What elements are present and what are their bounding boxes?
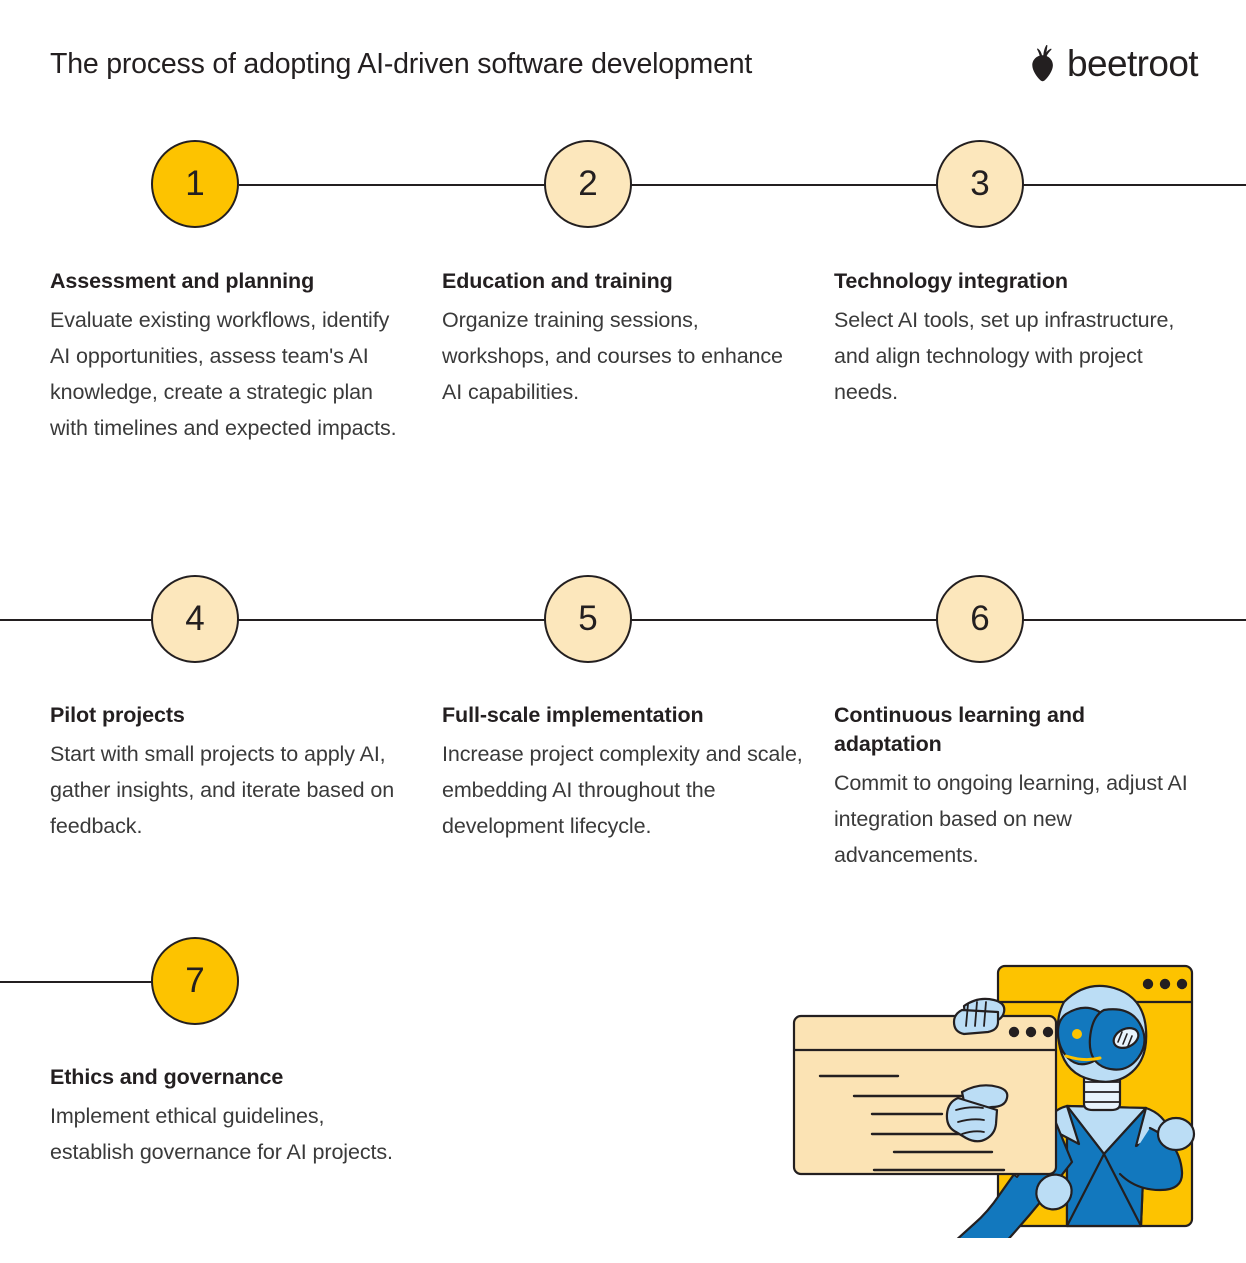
step-description: Increase project complexity and scale, e… bbox=[442, 736, 814, 844]
timeline-node-4[interactable]: 4 bbox=[151, 575, 239, 663]
timeline-step-1: Assessment and planning Evaluate existin… bbox=[50, 267, 405, 446]
step-description: Organize training sessions, workshops, a… bbox=[442, 302, 797, 410]
page-header: The process of adopting AI-driven softwa… bbox=[0, 48, 1246, 100]
timeline-step-4: Pilot projects Start with small projects… bbox=[50, 701, 405, 844]
timeline-rail-3 bbox=[0, 981, 153, 983]
timeline-rail-1 bbox=[239, 184, 1246, 186]
timeline-step-2: Education and training Organize training… bbox=[442, 267, 797, 410]
timeline-node-number: 7 bbox=[185, 961, 204, 1001]
timeline-node-number: 1 bbox=[185, 164, 204, 204]
timeline-node-1[interactable]: 1 bbox=[151, 140, 239, 228]
timeline-node-3[interactable]: 3 bbox=[936, 140, 1024, 228]
step-description: Evaluate existing workflows, identify AI… bbox=[50, 302, 405, 446]
step-description: Select AI tools, set up infrastructure, … bbox=[834, 302, 1189, 410]
timeline-node-6[interactable]: 6 bbox=[936, 575, 1024, 663]
beetroot-icon bbox=[1026, 44, 1060, 82]
step-title: Ethics and governance bbox=[50, 1063, 405, 1092]
timeline-node-number: 3 bbox=[970, 164, 989, 204]
step-description: Commit to ongoing learning, adjust AI in… bbox=[834, 765, 1189, 873]
step-title: Technology integration bbox=[834, 267, 1189, 296]
timeline-node-number: 2 bbox=[578, 164, 597, 204]
timeline-node-number: 5 bbox=[578, 599, 597, 639]
timeline-node-7[interactable]: 7 bbox=[151, 937, 239, 1025]
step-title: Pilot projects bbox=[50, 701, 405, 730]
step-title: Education and training bbox=[442, 267, 797, 296]
timeline-step-3: Technology integration Select AI tools, … bbox=[834, 267, 1189, 410]
robot-gripping-hand bbox=[954, 999, 1004, 1034]
timeline-node-number: 4 bbox=[185, 599, 204, 639]
robot-pointing-at-window-illustration bbox=[786, 958, 1206, 1238]
timeline-step-6: Continuous learning and adaptation Commi… bbox=[834, 701, 1189, 873]
step-title: Continuous learning and adaptation bbox=[834, 701, 1189, 759]
front-window bbox=[794, 1016, 1056, 1174]
page-title: The process of adopting AI-driven softwa… bbox=[50, 48, 752, 81]
timeline-node-number: 6 bbox=[970, 599, 989, 639]
timeline-node-2[interactable]: 2 bbox=[544, 140, 632, 228]
timeline-step-5: Full-scale implementation Increase proje… bbox=[442, 701, 814, 844]
timeline-node-5[interactable]: 5 bbox=[544, 575, 632, 663]
brand-logo: beetroot bbox=[1026, 44, 1198, 82]
step-title: Assessment and planning bbox=[50, 267, 405, 296]
step-description: Implement ethical guidelines, establish … bbox=[50, 1098, 405, 1170]
timeline-step-7: Ethics and governance Implement ethical … bbox=[50, 1063, 405, 1170]
step-title: Full-scale implementation bbox=[442, 701, 814, 730]
step-description: Start with small projects to apply AI, g… bbox=[50, 736, 405, 844]
brand-name: beetroot bbox=[1067, 45, 1198, 82]
